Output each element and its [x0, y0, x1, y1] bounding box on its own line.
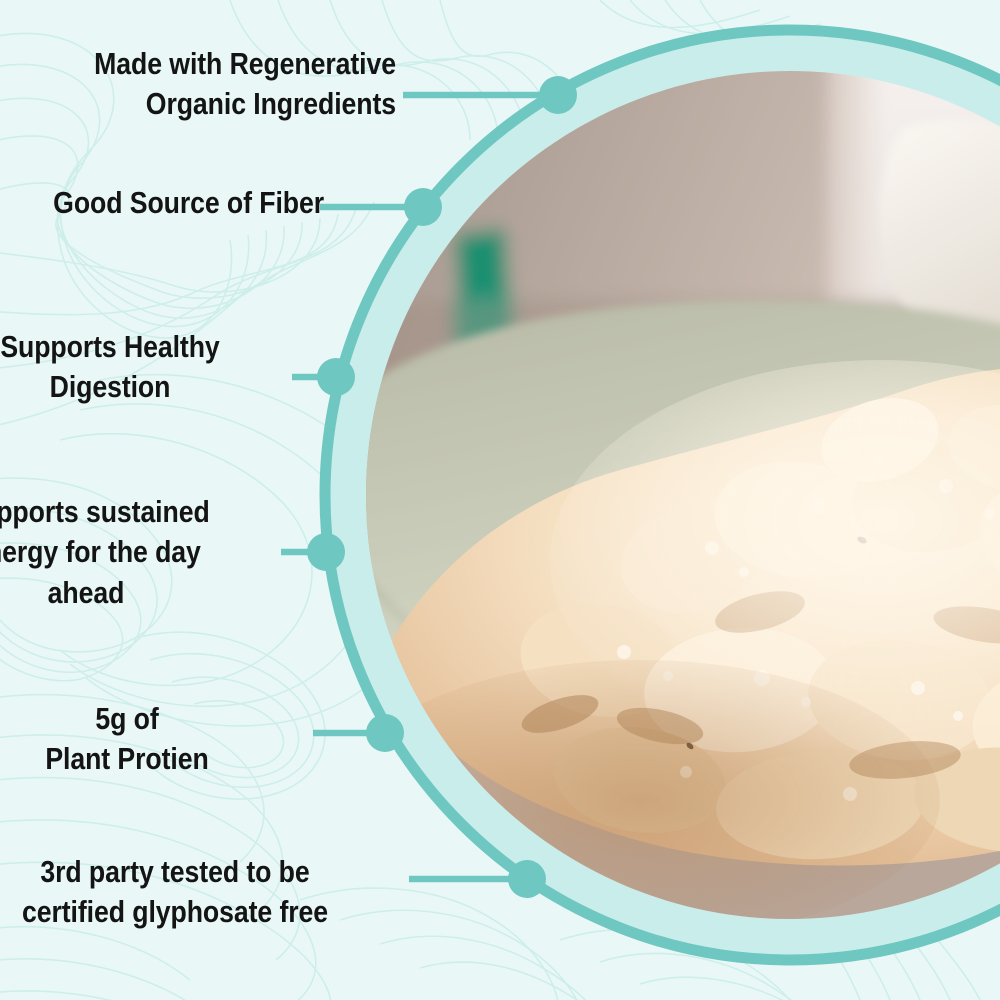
callout-label-supports-sustained-energy: Supports sustained energy for the day ah…	[0, 492, 258, 613]
node-dot-2	[317, 358, 355, 396]
callout-label-supports-healthy-digestion: Supports Healthy Digestion	[0, 327, 282, 408]
node-dot-5	[508, 860, 546, 898]
node-dot-0	[539, 76, 577, 114]
callout-label-3rd-party-tested-certified-glyphosate-free: 3rd party tested to be certified glyphos…	[0, 852, 377, 933]
node-dot-1	[404, 188, 442, 226]
callout-label-good-source-of-fiber: Good Source of Fiber	[0, 183, 324, 223]
node-dot-3	[307, 533, 345, 571]
callout-label-made-with-regenerative-organic-ingredients: Made with Regenerative Organic Ingredien…	[35, 44, 396, 125]
node-dot-4	[366, 714, 404, 752]
callout-label-5g-of-plant-protien: 5g of Plant Protien	[0, 699, 299, 780]
oatmeal-bowl-photo	[296, 40, 1000, 1000]
infographic-canvas: Made with Regenerative Organic Ingredien…	[0, 0, 1000, 1000]
